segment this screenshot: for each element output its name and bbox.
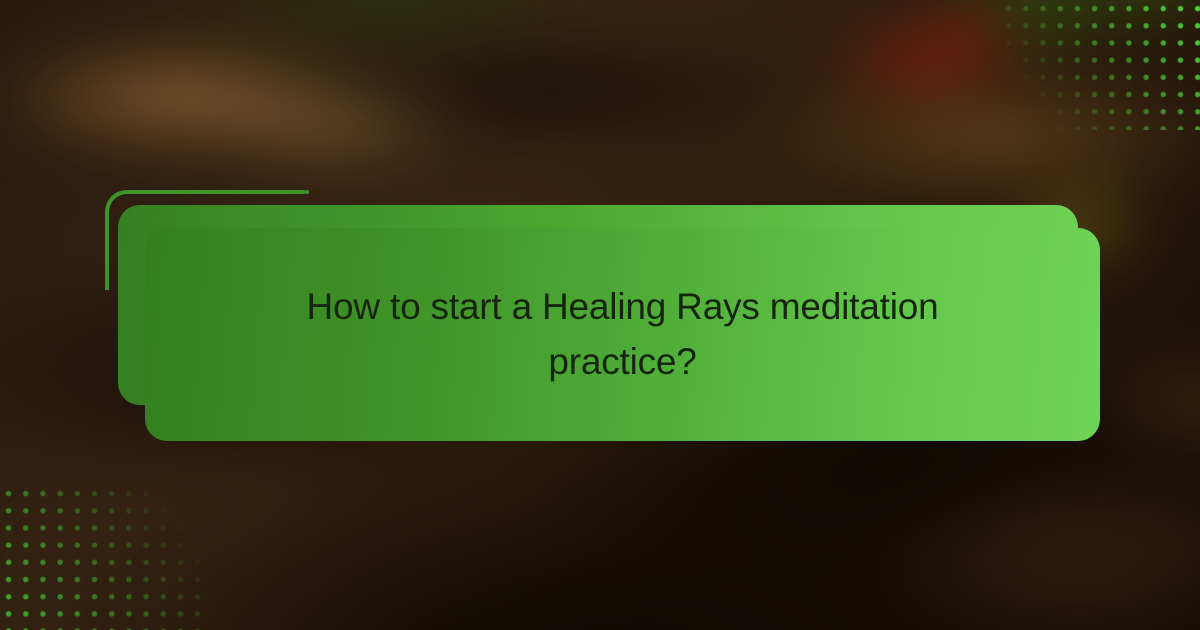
banner-canvas: How to start a Healing Rays meditation p… [0, 0, 1200, 630]
page-title: How to start a Healing Rays meditation p… [213, 280, 1033, 390]
headline-card: How to start a Healing Rays meditation p… [145, 228, 1100, 441]
